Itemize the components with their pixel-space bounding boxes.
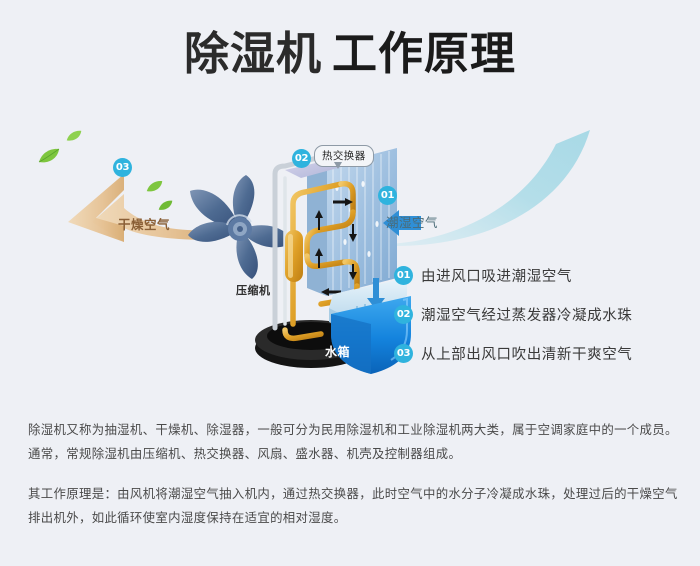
diagram-badge-03: 03 bbox=[113, 158, 132, 177]
page-title: 除湿机工作原理 bbox=[0, 28, 700, 80]
page-title-container: 除湿机工作原理 bbox=[0, 28, 700, 80]
label-water-tank: 水箱 bbox=[325, 343, 350, 360]
label-compressor: 压缩机 bbox=[236, 282, 271, 298]
page-title-part2: 工作原理 bbox=[332, 27, 516, 80]
body-paragraph-2: 其工作原理是：由风机将潮湿空气抽入机内，通过热交换器，此时空气中的水分子冷凝成水… bbox=[28, 482, 678, 530]
legend-text-03: 从上部出风口吹出清新干爽空气 bbox=[421, 343, 632, 364]
legend-text-02: 潮湿空气经过蒸发器冷凝成水珠 bbox=[421, 304, 632, 325]
leaf-icon bbox=[158, 200, 173, 211]
callout-tail-icon bbox=[334, 162, 342, 169]
diagram-badge-01: 01 bbox=[378, 186, 397, 205]
legend-badge-02: 02 bbox=[394, 305, 413, 324]
legend-item-03: 03 从上部出风口吹出清新干爽空气 bbox=[394, 334, 684, 373]
label-dry-air: 干燥空气 bbox=[118, 214, 170, 233]
body-paragraph-1: 除湿机又称为抽湿机、干燥机、除湿器，一般可分为民用除湿机和工业除湿机两大类，属于… bbox=[28, 418, 678, 466]
legend-text-01: 由进风口吸进潮湿空气 bbox=[421, 265, 572, 286]
diagram-badge-02: 02 bbox=[292, 149, 311, 168]
label-humid-air: 潮湿空气 bbox=[386, 212, 438, 231]
leaf-icon bbox=[146, 180, 163, 193]
leaf-icon bbox=[38, 148, 60, 164]
page-title-part1: 除湿机 bbox=[184, 27, 322, 80]
heat-exchanger-callout: 热交换器 bbox=[314, 145, 374, 167]
legend-badge-01: 01 bbox=[394, 266, 413, 285]
legend-item-02: 02 潮湿空气经过蒸发器冷凝成水珠 bbox=[394, 295, 684, 334]
body-copy: 除湿机又称为抽湿机、干燥机、除湿器，一般可分为民用除湿机和工业除湿机两大类，属于… bbox=[28, 418, 678, 530]
legend-badge-03: 03 bbox=[394, 344, 413, 363]
leaf-icon bbox=[66, 130, 82, 142]
legend-list: 01 由进风口吸进潮湿空气 02 潮湿空气经过蒸发器冷凝成水珠 03 从上部出风… bbox=[394, 256, 684, 373]
legend-item-01: 01 由进风口吸进潮湿空气 bbox=[394, 256, 684, 295]
